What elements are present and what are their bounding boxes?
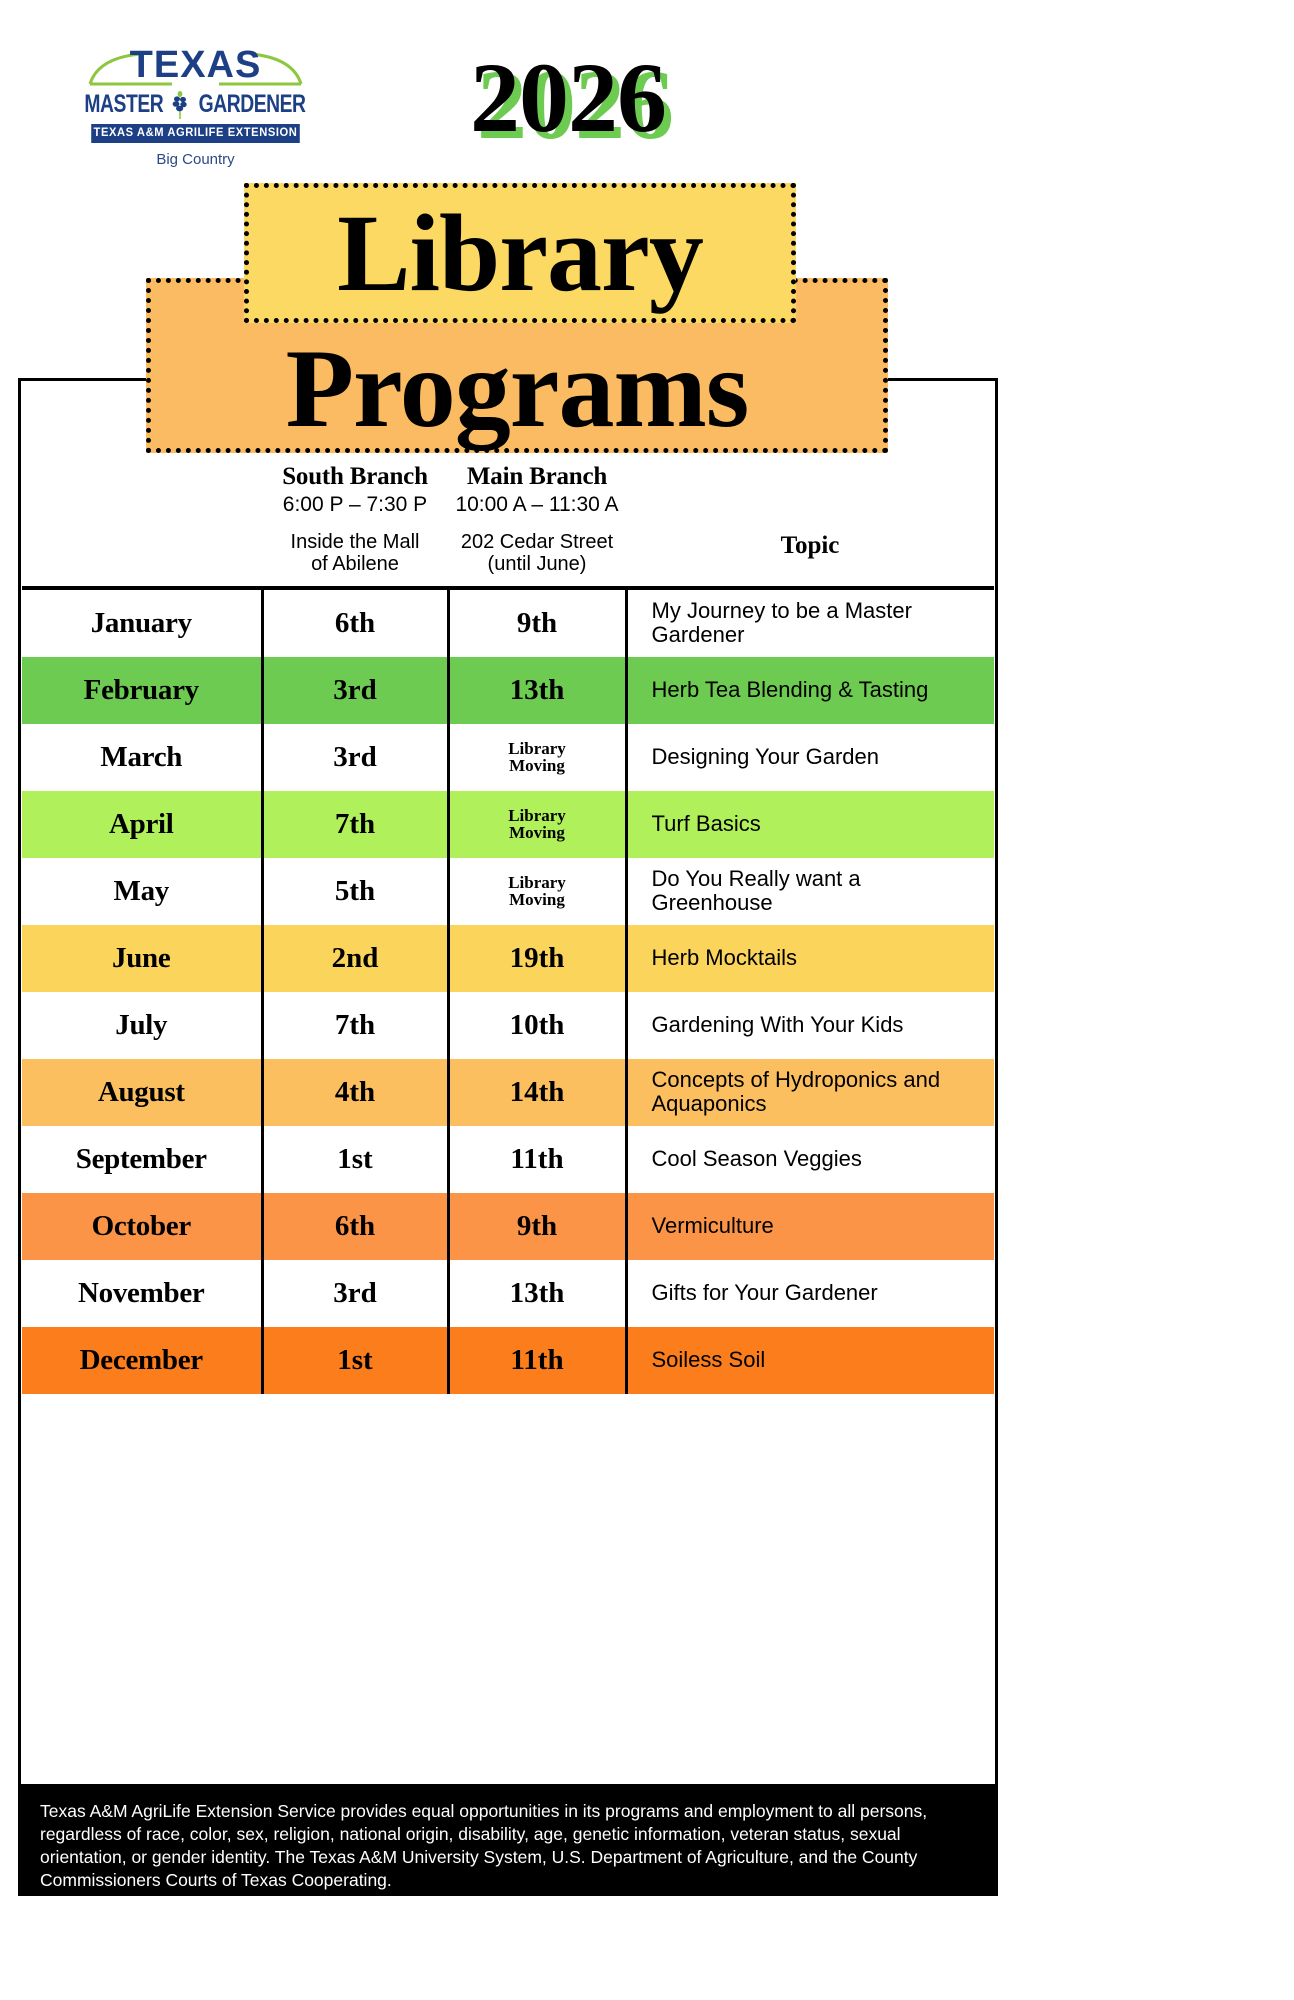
cell-month: July [22, 992, 262, 1059]
master-gardener-logo: TEXAS MASTER GARDENER TEXAS A&M AGRILIFE… [88, 46, 303, 168]
cell-south-date: 2nd [262, 925, 448, 992]
cell-month: June [22, 925, 262, 992]
table-row: November3rd13thGifts for Your Gardener [22, 1260, 994, 1327]
table-row: January6th9thMy Journey to be a Master G… [22, 590, 994, 657]
table-row: April7thLibraryMovingTurf Basics [22, 791, 994, 858]
cell-south-date: 3rd [262, 724, 448, 791]
logo-master-word: MASTER [84, 91, 163, 119]
cell-south-date: 5th [262, 858, 448, 925]
header-south-place-line2: of Abilene [266, 553, 444, 575]
header-main-name: Main Branch [452, 463, 622, 491]
cell-main-date: 9th [448, 1193, 626, 1260]
header-topic: Topic [626, 463, 994, 588]
cell-topic: Turf Basics [626, 791, 994, 858]
cell-month: December [22, 1327, 262, 1394]
cell-month: January [22, 590, 262, 657]
cell-topic: Concepts of Hydroponics and Aquaponics [626, 1059, 994, 1126]
cell-topic: Gifts for Your Gardener [626, 1260, 994, 1327]
table-row: June2nd19thHerb Mocktails [22, 925, 994, 992]
cell-month: November [22, 1260, 262, 1327]
logo-subtitle: Big Country [88, 151, 303, 168]
header-south-time: 6:00 P – 7:30 P [266, 493, 444, 517]
header-south-place-line1: Inside the Mall [266, 531, 444, 553]
schedule-table-head: South Branch 6:00 P – 7:30 P Inside the … [22, 463, 994, 590]
cell-topic: My Journey to be a Master Gardener [626, 590, 994, 657]
bluebonnet-icon [170, 90, 190, 120]
header-month [22, 463, 262, 588]
header-row: South Branch 6:00 P – 7:30 P Inside the … [22, 463, 994, 588]
cell-south-date: 6th [262, 1193, 448, 1260]
header-south-place: Inside the Mall of Abilene [266, 531, 444, 576]
cell-south-date: 6th [262, 590, 448, 657]
library-moving-line: Library [460, 807, 615, 824]
library-moving-line: Moving [460, 824, 615, 841]
cell-month: August [22, 1059, 262, 1126]
cell-month: March [22, 724, 262, 791]
header-main-place-line1: 202 Cedar Street [452, 531, 622, 553]
table-row: September1st11thCool Season Veggies [22, 1126, 994, 1193]
header-south-branch: South Branch 6:00 P – 7:30 P Inside the … [262, 463, 448, 588]
table-row: August4th14thConcepts of Hydroponics and… [22, 1059, 994, 1126]
cell-main-date: 11th [448, 1327, 626, 1394]
logo-texas-word: TEXAS [88, 46, 303, 84]
table-row: March3rdLibraryMovingDesigning Your Gard… [22, 724, 994, 791]
logo-gardener-word: GARDENER [199, 91, 306, 119]
logo-master-gardener-row: MASTER GARDENER [88, 90, 303, 120]
cell-main-date: 11th [448, 1126, 626, 1193]
cell-topic: Gardening With Your Kids [626, 992, 994, 1059]
header-main-place-line2: (until June) [452, 553, 622, 575]
cell-main-date: 13th [448, 1260, 626, 1327]
cell-month: February [22, 657, 262, 724]
library-moving-line: Library [460, 740, 615, 757]
cell-south-date: 3rd [262, 1260, 448, 1327]
title-programs-text: Programs [286, 336, 749, 448]
cell-month: April [22, 791, 262, 858]
schedule-table-wrap: South Branch 6:00 P – 7:30 P Inside the … [22, 463, 994, 1394]
cell-month: September [22, 1126, 262, 1193]
cell-main-date: 14th [448, 1059, 626, 1126]
table-row: February3rd13thHerb Tea Blending & Tasti… [22, 657, 994, 724]
header-main-place: 202 Cedar Street (until June) [452, 531, 622, 576]
library-moving-line: Moving [460, 891, 615, 908]
cell-south-date: 1st [262, 1327, 448, 1394]
cell-topic: Herb Mocktails [626, 925, 994, 992]
cell-topic: Do You Really want a Greenhouse [626, 858, 994, 925]
table-row: July7th10thGardening With Your Kids [22, 992, 994, 1059]
library-moving-line: Moving [460, 757, 615, 774]
header-main-time: 10:00 A – 11:30 A [452, 493, 622, 517]
library-moving-line: Library [460, 874, 615, 891]
page-year: 2026 [470, 48, 666, 148]
cell-main-date: 10th [448, 992, 626, 1059]
cell-topic: Cool Season Veggies [626, 1126, 994, 1193]
cell-main-date: 19th [448, 925, 626, 992]
cell-topic: Soiless Soil [626, 1327, 994, 1394]
schedule-table: South Branch 6:00 P – 7:30 P Inside the … [22, 463, 994, 1394]
table-row: October6th9thVermiculture [22, 1193, 994, 1260]
title-library-box: Library [244, 183, 796, 323]
schedule-table-body: January6th9thMy Journey to be a Master G… [22, 590, 994, 1394]
equal-opportunity-footer: Texas A&M AgriLife Extension Service pro… [18, 1784, 998, 1896]
cell-topic: Herb Tea Blending & Tasting [626, 657, 994, 724]
cell-south-date: 3rd [262, 657, 448, 724]
cell-south-date: 1st [262, 1126, 448, 1193]
cell-south-date: 7th [262, 992, 448, 1059]
cell-main-library-moving: LibraryMoving [448, 791, 626, 858]
cell-south-date: 7th [262, 791, 448, 858]
cell-main-library-moving: LibraryMoving [448, 724, 626, 791]
cell-topic: Vermiculture [626, 1193, 994, 1260]
cell-south-date: 4th [262, 1059, 448, 1126]
title-library-text: Library [337, 201, 703, 306]
table-row: December1st11thSoiless Soil [22, 1327, 994, 1394]
cell-topic: Designing Your Garden [626, 724, 994, 791]
logo-extension-bar: TEXAS A&M AGRILIFE EXTENSION [91, 124, 300, 143]
cell-month: May [22, 858, 262, 925]
disclaimer-text: Texas A&M AgriLife Extension Service pro… [40, 1801, 927, 1890]
cell-main-date: 9th [448, 590, 626, 657]
table-row: May5thLibraryMovingDo You Really want a … [22, 858, 994, 925]
header-main-branch: Main Branch 10:00 A – 11:30 A 202 Cedar … [448, 463, 626, 588]
cell-main-library-moving: LibraryMoving [448, 858, 626, 925]
cell-month: October [22, 1193, 262, 1260]
header-south-name: South Branch [266, 463, 444, 491]
cell-main-date: 13th [448, 657, 626, 724]
